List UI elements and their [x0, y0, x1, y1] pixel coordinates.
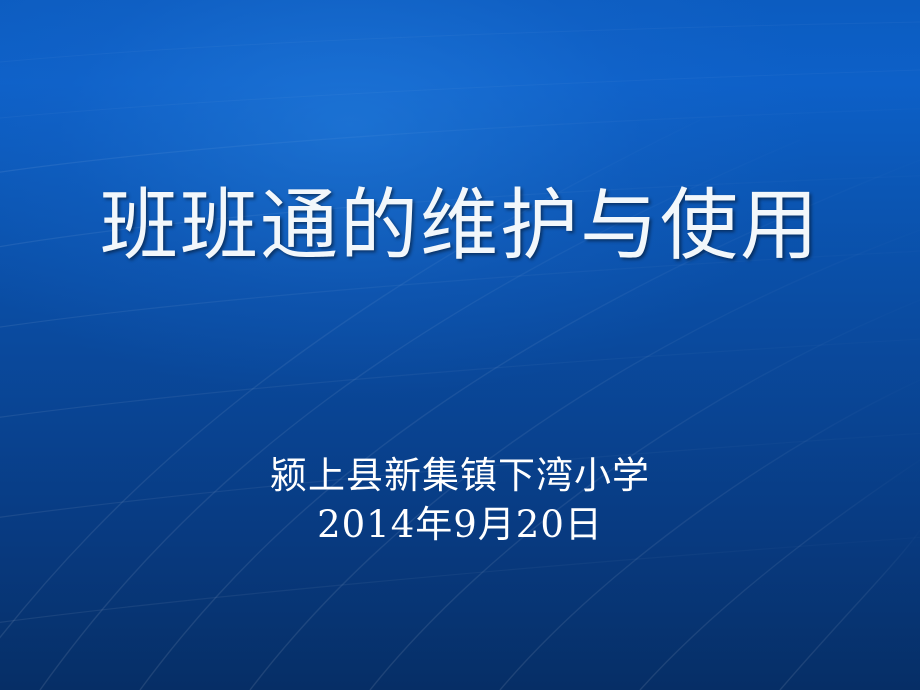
slide-title: 班班通的维护与使用 — [0, 186, 920, 268]
slide-title-container: 班班通的维护与使用 — [0, 186, 920, 268]
subtitle-line-school: 颍上县新集镇下湾小学 — [0, 452, 920, 501]
presentation-slide: 班班通的维护与使用 颍上县新集镇下湾小学 2014年9月20日 — [0, 0, 920, 690]
subtitle-line-date: 2014年9月20日 — [0, 501, 920, 550]
slide-subtitle-container: 颍上县新集镇下湾小学 2014年9月20日 — [0, 452, 920, 550]
globe-grid-decoration — [0, 0, 920, 690]
